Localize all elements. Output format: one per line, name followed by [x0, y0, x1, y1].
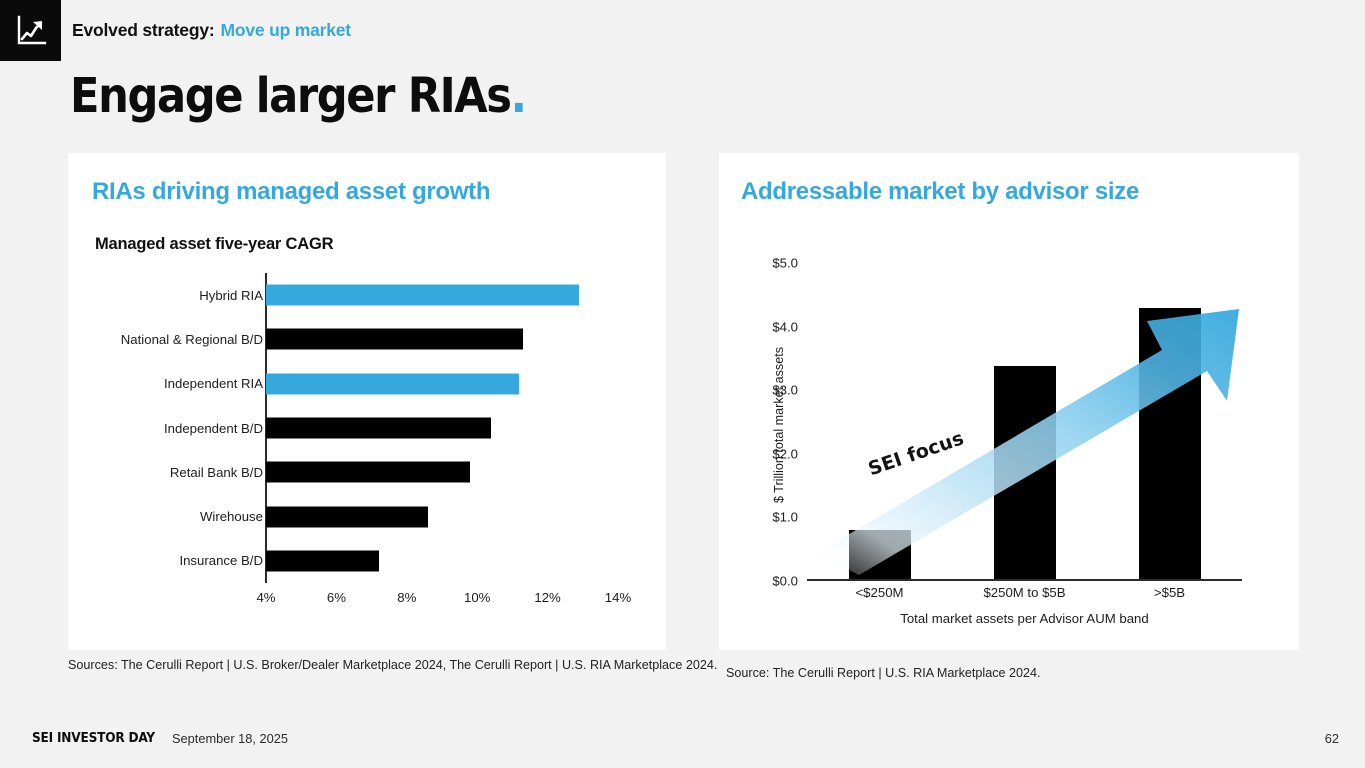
- kicker: Evolved strategy: Move up market: [72, 20, 351, 41]
- hbar-fill: [266, 285, 579, 306]
- hbar-x-tick: 12%: [534, 590, 560, 605]
- hbar-category-label: Wirehouse: [200, 509, 263, 524]
- hbar-rows: Hybrid RIANational & Regional B/DIndepen…: [68, 273, 666, 583]
- vbar-x-axis-label: Total market assets per Advisor AUM band: [807, 611, 1242, 626]
- hbar-x-tick: 4%: [256, 590, 275, 605]
- hbar-row: Hybrid RIA: [68, 273, 666, 317]
- vbar-y-tick: $1.0: [772, 510, 807, 525]
- hbar-row: Insurance B/D: [68, 539, 666, 583]
- vbar-bar: [849, 530, 911, 580]
- source-left: Sources: The Cerulli Report | U.S. Broke…: [68, 657, 717, 675]
- hbar-row: Independent B/D: [68, 406, 666, 450]
- vbar-y-tick: $2.0: [772, 446, 807, 461]
- hbar-category-label: Insurance B/D: [179, 553, 263, 568]
- vbar-y-tick: $0.0: [772, 574, 807, 589]
- hbar-row: Retail Bank B/D: [68, 450, 666, 494]
- hbar-fill: [266, 462, 470, 483]
- hbar-fill: [266, 506, 428, 527]
- horizontal-bar-chart: Hybrid RIANational & Regional B/DIndepen…: [68, 265, 666, 635]
- hbar-fill: [266, 418, 491, 439]
- hbar-row: Wirehouse: [68, 494, 666, 538]
- vertical-bar-chart: $ Trillion total market assets $0.0$1.0$…: [719, 253, 1299, 653]
- kicker-label: Evolved strategy:: [72, 20, 215, 41]
- vbar-bar: [1139, 308, 1201, 580]
- slide: Evolved strategy: Move up market Engage …: [0, 0, 1365, 768]
- hbar-x-tick: 14%: [605, 590, 631, 605]
- card-left-title: RIAs driving managed asset growth: [92, 178, 490, 206]
- line-chart-up-icon: [0, 0, 61, 61]
- footer-date: September 18, 2025: [172, 731, 288, 746]
- vbar-x-tick: <$250M: [855, 585, 903, 600]
- hbar-row: Independent RIA: [68, 362, 666, 406]
- vbar-y-tick: $4.0: [772, 319, 807, 334]
- chart-subtitle-cagr: Managed asset five-year CAGR: [95, 235, 333, 254]
- hbar-fill: [266, 329, 523, 350]
- hbar-x-tick: 6%: [327, 590, 346, 605]
- vbar-plot-area: $0.0$1.0$2.0$3.0$4.0$5.0: [807, 263, 1242, 581]
- hbar-track: [266, 373, 519, 394]
- hbar-category-label: Retail Bank B/D: [170, 465, 263, 480]
- page-title-text: Engage larger RIAs: [70, 68, 511, 124]
- hbar-track: [266, 329, 523, 350]
- page-title-dot: .: [511, 68, 526, 124]
- hbar-category-label: Hybrid RIA: [199, 288, 263, 303]
- hbar-track: [266, 462, 470, 483]
- vbar-y-axis-label: $ Trillion total market assets: [772, 310, 786, 540]
- hbar-x-ticks: 4%6%8%10%12%14%: [68, 590, 666, 620]
- hbar-x-tick: 8%: [397, 590, 416, 605]
- vbar-bar: [994, 366, 1056, 580]
- hbar-x-tick: 10%: [464, 590, 490, 605]
- vbar-x-tick: >$5B: [1154, 585, 1185, 600]
- hbar-track: [266, 285, 579, 306]
- hbar-category-label: Independent RIA: [164, 376, 263, 391]
- hbar-track: [266, 418, 491, 439]
- hbar-fill: [266, 550, 379, 571]
- card-right-title: Addressable market by advisor size: [741, 178, 1139, 206]
- page-number: 62: [1325, 731, 1339, 746]
- hbar-fill: [266, 373, 519, 394]
- card-addressable-market: Addressable market by advisor size $ Tri…: [719, 153, 1299, 650]
- vbar-baseline: [807, 579, 1242, 581]
- card-rias-growth: RIAs driving managed asset growth Manage…: [68, 153, 666, 650]
- page-title: Engage larger RIAs.: [70, 68, 526, 124]
- vbar-y-tick: $3.0: [772, 383, 807, 398]
- source-right: Source: The Cerulli Report | U.S. RIA Ma…: [726, 665, 1041, 683]
- hbar-track: [266, 506, 428, 527]
- hbar-row: National & Regional B/D: [68, 317, 666, 361]
- hbar-category-label: Independent B/D: [164, 421, 263, 436]
- hbar-track: [266, 550, 379, 571]
- hbar-category-label: National & Regional B/D: [121, 332, 263, 347]
- vbar-x-tick: $250M to $5B: [983, 585, 1065, 600]
- vbar-y-tick: $5.0: [772, 256, 807, 271]
- footer-brand: SEI INVESTOR DAY: [32, 730, 155, 746]
- kicker-value: Move up market: [221, 20, 351, 41]
